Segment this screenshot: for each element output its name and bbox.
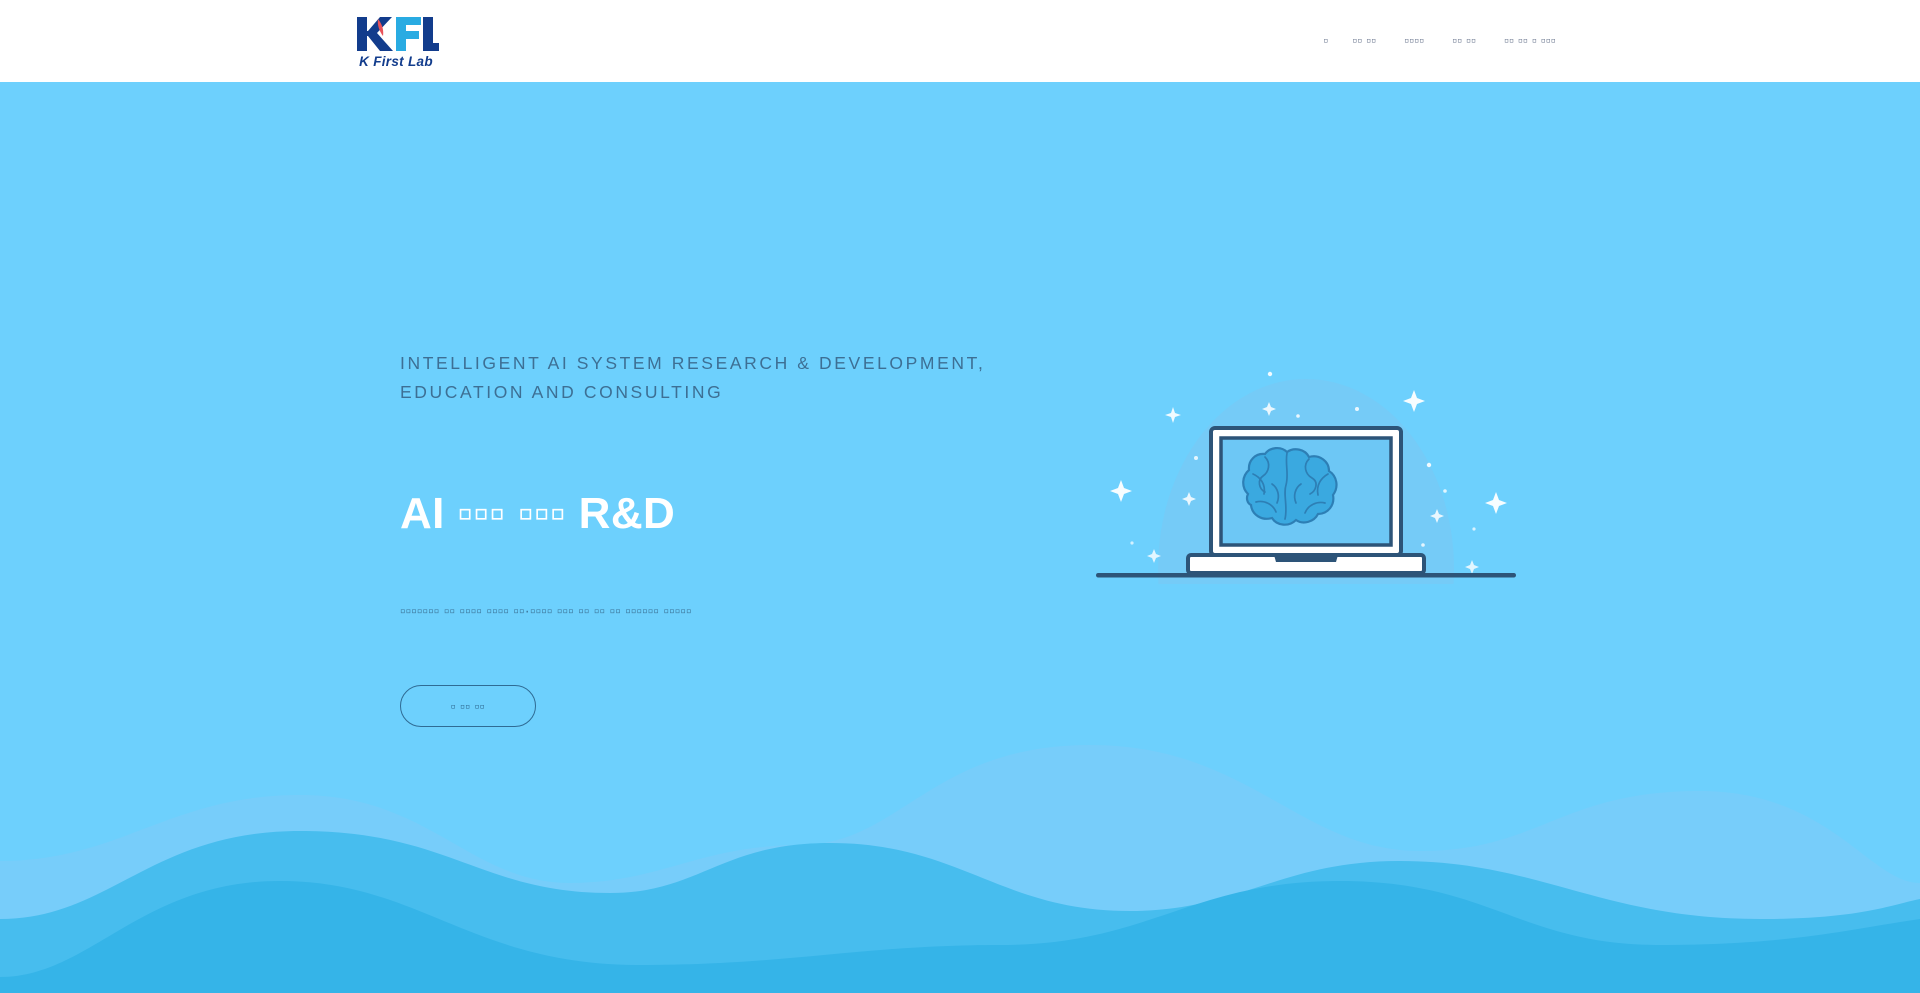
kfl-logo-icon (353, 13, 439, 53)
main-navigation: ▫ ▫▫ ▫▫ ▫▫▫▫ ▫▫ ▫▫ ▫▫ ▫▫ ▫ ▫▫▫ (1313, 0, 1920, 82)
nav-item-research[interactable]: ▫▫ ▫▫ (1438, 28, 1490, 54)
hero-copy-block: INTELLIGENT AI SYSTEM RESEARCH & DEVELOP… (400, 349, 1160, 727)
hero-headline: AI ▫▫▫ ▫▫▫ R&D (400, 490, 1160, 538)
site-header: K First Lab ▫ ▫▫ ▫▫ ▫▫▫▫ ▫▫ ▫▫ ▫▫ ▫▫ ▫ ▫… (0, 0, 1920, 82)
brain-icon (1243, 448, 1336, 525)
nav-item-business[interactable]: ▫▫▫▫ (1390, 28, 1438, 54)
logo-home-link[interactable]: K First Lab (353, 11, 439, 71)
page-root: K First Lab ▫ ▫▫ ▫▫ ▫▫▫▫ ▫▫ ▫▫ ▫▫ ▫▫ ▫ ▫… (0, 0, 1920, 993)
hero-cta-button[interactable]: ▫ ▫▫ ▫▫ (400, 685, 536, 727)
hero-eyebrow: INTELLIGENT AI SYSTEM RESEARCH & DEVELOP… (400, 349, 1000, 408)
nav-item-notice-contact[interactable]: ▫▫ ▫▫ ▫ ▫▫▫ (1490, 28, 1570, 54)
hero-section: INTELLIGENT AI SYSTEM RESEARCH & DEVELOP… (0, 82, 1920, 993)
hero-subcopy: ▫▫▫▫▫▫▫ ▫▫ ▫▫▫▫ ▫▫▫▫ ▫▫·▫▫▫▫ ▫▫▫ ▫▫ ▫▫ ▫… (400, 600, 1160, 625)
wave-decoration (0, 733, 1920, 993)
logo-wordmark: K First Lab (359, 54, 433, 69)
nav-item-home[interactable]: ▫ (1313, 28, 1338, 54)
nav-item-company[interactable]: ▫▫ ▫▫ (1338, 28, 1390, 54)
